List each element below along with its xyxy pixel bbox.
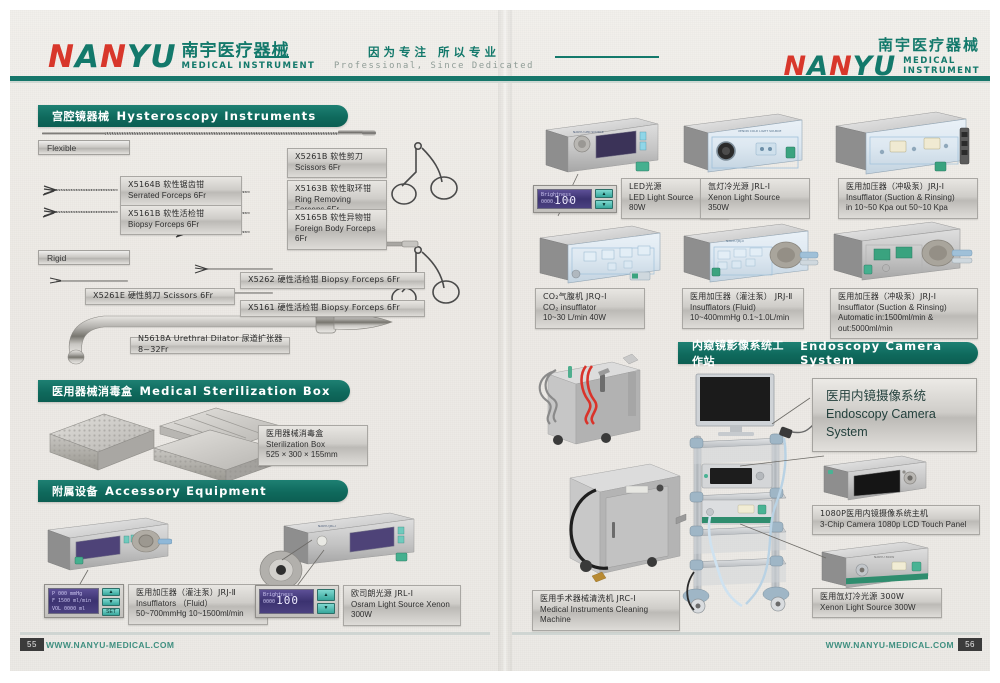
footer-url-right[interactable]: WWW.NANYU-MEDICAL.COM <box>826 640 954 650</box>
page-frame-top <box>0 0 1000 10</box>
caption-foreign-body: X5165B 软性异物钳 Foreign Body Forceps 6Fr <box>287 209 387 250</box>
sterilization-box-closed-image <box>42 408 157 483</box>
group-label-flexible-text: Flexible <box>47 143 76 153</box>
caption-rigid-biopsy-5161-text: X5161 硬性活检钳 Biopsy Forceps 6Fr <box>248 303 400 314</box>
tagline-rule-left <box>255 56 289 58</box>
lcd-line-2: F 1500 ml/min <box>52 598 95 605</box>
caption-osram-spec: 300W <box>351 610 454 621</box>
caption-insufflator-fluid: 医用加压器（灌注泵）JRJ-Ⅱ Insufflators （Fluid） 50~… <box>128 584 268 625</box>
section-banner-hysteroscopy: 宫腔镜器械 Hysteroscopy Instruments <box>38 105 348 127</box>
caption-biopsy-forceps-flex: X5161B 软性活检钳 Biopsy Forceps 6Fr <box>120 205 242 235</box>
brand-wordmark: NANYU <box>48 42 177 73</box>
caption-cleaning-machine-cn: 医用手术器械清洗机 JRC-Ⅰ <box>540 594 673 605</box>
caption-insufflator-auto: 医用加压器（冲吸泵）JRJ-Ⅰ Insufflator (Suction & R… <box>830 288 978 339</box>
lcd-button-up-led[interactable]: ▲ <box>595 189 613 198</box>
section-banner-accessory-cn: 附属设备 <box>52 483 98 499</box>
caption-rigid-scissors-text: X5261E 硬性剪刀 Scissors 6Fr <box>93 291 213 302</box>
lcd-line-3: VOL 0000 ml <box>52 606 95 613</box>
caption-co2-cn: CO₂气腹机 JRQ-Ⅰ <box>543 292 638 303</box>
section-banner-camera-cn: 内窥镜影像系统工作站 <box>692 337 793 369</box>
caption-scissors-flex-cn: X5261B 软性剪刀 <box>295 152 380 163</box>
section-banner-accessory-en: Accessory Equipment <box>105 484 267 498</box>
device-xenon-light-source-image: XENON COLD LIGHT SOURCE <box>678 110 804 182</box>
caption-urethral-dilator-text: N5618A Urethral Dilator 尿道扩张器 8~32Fr <box>138 334 283 355</box>
svg-text:NANYU 300W: NANYU 300W <box>874 555 894 559</box>
lcd-button-down[interactable]: ▼ <box>102 598 120 606</box>
caption-ring-removing-cn: X5163B 软性取环钳 <box>295 184 380 195</box>
section-banner-sterilization-cn: 医用器械消毒盒 <box>52 383 133 399</box>
caption-xenon-300w: 医用氙灯冷光源 300W Xenon Light Source 300W <box>812 588 942 618</box>
caption-camera-system-main: 医用内镜摄像系统 Endoscopy Camera System <box>812 378 977 452</box>
caption-insufflator-suction-cn: 医用加压器（冲吸泵）JRJ-Ⅰ <box>846 182 971 193</box>
group-label-flexible: Flexible <box>38 140 130 155</box>
device-insufflator-suction-image <box>832 108 972 184</box>
caption-1080p-camera: 1080P医用内镜摄像系统主机 3-Chip Camera 1080p LCD … <box>812 505 980 535</box>
section-banner-accessory: 附属设备 Accessory Equipment <box>38 480 348 502</box>
caption-xenon-300w-en: Xenon Light Source 300W <box>820 603 935 614</box>
caption-camera-system-en: Endoscopy Camera System <box>826 405 964 441</box>
brand-sub-en-line2: INSTRUMENT <box>903 67 980 77</box>
catalog-page: NANYU 南宇医疗器械 MEDICAL INSTRUMENT 因为专注 所以专… <box>0 0 1000 683</box>
page-number-right: 56 <box>958 638 982 651</box>
group-label-rigid: Rigid <box>38 250 130 265</box>
machine-cleaning-upper-image <box>528 352 648 462</box>
instrument-biopsy-forceps-jaw-icon <box>42 206 68 222</box>
caption-insufflator-fluid-cn: 医用加压器（灌注泵）JRJ-Ⅱ <box>136 588 261 599</box>
lcd-button-down-osram[interactable]: ▼ <box>317 603 335 615</box>
lcd-button-set[interactable]: SET <box>102 608 120 616</box>
caption-insufflator-auto-spec: Automatic in:1500ml/min & out:5000ml/min <box>838 313 971 334</box>
caption-osram-cn: 欧司朗光源 JRL-Ⅰ <box>351 589 454 600</box>
caption-scissors-flex: X5261B 软性剪刀 Scissors 6Fr <box>287 148 387 178</box>
lcd-value-led: 100 <box>554 193 577 209</box>
caption-scissors-flex-en: Scissors 6Fr <box>295 163 380 174</box>
caption-biopsy-forceps-flex-en: Biopsy Forceps 6Fr <box>128 220 235 231</box>
caption-insufflator-fluid-spec: 50~700mmHg 10~1500ml/min <box>136 609 261 620</box>
caption-insufflator-auto-en: Insufflator (Suction & Rinsing) <box>838 303 971 314</box>
caption-serrated-forceps-en: Serrated Forceps 6Fr <box>128 191 235 202</box>
caption-insufflator-fluid-right-cn: 医用加压器（灌注泵） JRJ-Ⅱ <box>690 292 797 303</box>
section-banner-sterilization: 医用器械消毒盒 Medical Sterilization Box <box>38 380 350 402</box>
caption-insufflator-fluid-right-spec: 10~400mmHg 0.1~1.0L/min <box>690 313 797 324</box>
caption-co2-insufflator: CO₂气腹机 JRQ-Ⅰ CO₂ insufflator 10~30 L/min… <box>535 288 645 329</box>
svg-text:NANYU LED SOURCE: NANYU LED SOURCE <box>573 130 604 134</box>
caption-urethral-dilator: N5618A Urethral Dilator 尿道扩张器 8~32Fr <box>130 337 290 354</box>
caption-insufflator-fluid-right: 医用加压器（灌注泵） JRJ-Ⅱ Insufflators (Fluid) 10… <box>682 288 804 329</box>
svg-text:NANYU JRJ-II: NANYU JRJ-II <box>726 239 744 243</box>
lcd-screen-led: Brightness 0000.... % 100 <box>537 189 592 209</box>
instrument-rigid-scissors-tip-icon <box>48 275 68 287</box>
lcd-line-1: P 000 mmHg <box>52 591 95 598</box>
footer-url-left[interactable]: WWW.NANYU-MEDICAL.COM <box>46 640 174 650</box>
lcd-panel-insufflator: P 000 mmHg F 1500 ml/min VOL 0000 ml ▲ ▼… <box>44 584 124 618</box>
lcd-button-down-led[interactable]: ▼ <box>595 200 613 209</box>
caption-cleaning-machine: 医用手术器械清洗机 JRC-Ⅰ Medical Instruments Clea… <box>532 590 680 631</box>
caption-co2-spec: 10~30 L/min 40W <box>543 313 638 324</box>
lcd-panel-led: Brightness 0000.... % 100 ▲ ▼ <box>533 185 617 213</box>
caption-xenon-light-source: 氙灯冷光源 JRL-Ⅰ Xenon Light Source 350W <box>700 178 810 219</box>
caption-xenon-spec: 350W <box>708 203 803 214</box>
section-banner-sterilization-en: Medical Sterilization Box <box>140 384 331 398</box>
page-frame-left <box>0 0 10 683</box>
lcd-screen-osram: Brightness 0000 ... 100 <box>259 589 314 614</box>
caption-osram-en: Osram Light Source Xenon <box>351 600 454 611</box>
lcd-button-up-osram[interactable]: ▲ <box>317 589 335 601</box>
lcd-value-brightness: 100 <box>276 593 299 609</box>
caption-insufflator-fluid-en: Insufflators （Fluid） <box>136 599 261 610</box>
caption-rigid-biopsy-5262-text: X5262 硬性活检钳 Biopsy Forceps 6Fr <box>248 275 400 286</box>
tagline-cn: 因为专注 所以专业 <box>255 44 595 60</box>
logo-right: 南宇医疗器械 NANYU MEDICAL INSTRUMENT <box>784 34 980 80</box>
lcd-buttons-led[interactable]: ▲ ▼ <box>595 189 613 209</box>
device-insufflator-auto-image <box>828 218 978 294</box>
svg-text:XENON COLD LIGHT SOURCE: XENON COLD LIGHT SOURCE <box>738 129 782 133</box>
caption-biopsy-forceps-flex-cn: X5161B 软性活检钳 <box>128 209 235 220</box>
lcd-screen-insufflator: P 000 mmHg F 1500 ml/min VOL 0000 ml <box>48 588 99 614</box>
brand-wordmark-right: NANYU <box>784 53 897 80</box>
footer-rule-left <box>20 632 490 635</box>
caption-insufflator-fluid-right-en: Insufflators (Fluid) <box>690 303 797 314</box>
lcd-buttons-osram[interactable]: ▲ ▼ <box>317 589 335 614</box>
svg-text:NANYU JRL-I: NANYU JRL-I <box>318 524 336 528</box>
page-frame-right <box>990 0 1000 683</box>
instrument-flexible-long-braid <box>105 132 345 135</box>
group-label-rigid-text: Rigid <box>47 253 66 263</box>
caption-cleaning-machine-en: Medical Instruments Cleaning Machine <box>540 605 673 626</box>
section-banner-hysteroscopy-en: Hysteroscopy Instruments <box>117 109 317 123</box>
caption-camera-system-cn: 医用内镜摄像系统 <box>826 387 964 405</box>
brand-sub-en-right: MEDICAL INSTRUMENT <box>903 57 980 77</box>
caption-serrated-forceps-cn: X5164B 软性锯齿钳 <box>128 180 235 191</box>
lcd-panel-osram: Brightness 0000 ... 100 ▲ ▼ <box>255 585 339 618</box>
caption-foreign-body-en: Foreign Body Forceps 6Fr <box>295 224 380 245</box>
section-banner-camera-en: Endoscopy Camera System <box>800 339 978 367</box>
caption-xenon-en: Xenon Light Source <box>708 193 803 204</box>
lcd-button-up[interactable]: ▲ <box>102 588 120 596</box>
section-banner-camera-system: 内窥镜影像系统工作站 Endoscopy Camera System <box>678 342 978 364</box>
caption-osram-light-source: 欧司朗光源 JRL-Ⅰ Osram Light Source Xenon 300… <box>343 585 461 626</box>
caption-sterilization-box: 医用器械消毒盒 Sterilization Box 525 × 300 × 15… <box>258 425 368 466</box>
device-co2-insufflator-image <box>534 222 664 294</box>
instrument-serrated-forceps-jaw-icon <box>42 184 68 200</box>
caption-co2-en: CO₂ insufflator <box>543 303 638 314</box>
caption-1080p-en: 3-Chip Camera 1080p LCD Touch Panel <box>820 520 973 531</box>
caption-insufflator-suction-spec: in 10~50 Kpa out 50~10 Kpa <box>846 203 971 214</box>
page-frame-bottom <box>0 671 1000 683</box>
caption-rigid-biopsy-5262: X5262 硬性活检钳 Biopsy Forceps 6Fr <box>240 272 425 289</box>
caption-sterilization-box-size: 525 × 300 × 155mm <box>266 450 361 461</box>
instrument-flexible-long-tip <box>362 130 376 136</box>
caption-xenon-cn: 氙灯冷光源 JRL-Ⅰ <box>708 182 803 193</box>
caption-sterilization-box-cn: 医用器械消毒盒 <box>266 429 361 440</box>
tagline-rule-right <box>555 56 659 58</box>
caption-rigid-scissors: X5261E 硬性剪刀 Scissors 6Fr <box>85 288 235 305</box>
instrument-rigid-biopsy1-jaw-icon <box>193 263 215 277</box>
page-number-left: 55 <box>20 638 44 651</box>
caption-xenon-300w-cn: 医用氙灯冷光源 300W <box>820 592 935 603</box>
caption-insufflator-auto-cn: 医用加压器（冲吸泵）JRJ-Ⅰ <box>838 292 971 303</box>
device-insufflator-fluid-pump-image: NANYU JRJ-II <box>678 220 828 296</box>
caption-insufflator-suction: 医用加压器（冲吸泵）JRJ-Ⅰ Insufflator (Suction & R… <box>838 178 978 219</box>
caption-1080p-cn: 1080P医用内镜摄像系统主机 <box>820 509 973 520</box>
caption-foreign-body-cn: X5165B 软性异物钳 <box>295 213 380 224</box>
instrument-flexible-long-handle <box>338 130 365 135</box>
tagline-block: 因为专注 所以专业 Professional, Since Dedicated <box>255 44 595 71</box>
callout-line-1080p <box>740 448 860 482</box>
caption-serrated-forceps: X5164B 软性锯齿钳 Serrated Forceps 6Fr <box>120 176 242 206</box>
section-banner-hysteroscopy-cn: 宫腔镜器械 <box>52 108 110 124</box>
footer-rule-right <box>512 632 980 635</box>
caption-sterilization-box-en: Sterilization Box <box>266 440 361 451</box>
tagline-en: Professional, Since Dedicated <box>255 61 595 71</box>
lcd-buttons-insufflator[interactable]: ▲ ▼ SET <box>102 588 120 614</box>
machine-cleaning-lower-image <box>552 452 687 582</box>
page-spine <box>498 10 512 671</box>
caption-insufflator-suction-en: Insufflator (Suction & Rinsing) <box>846 193 971 204</box>
caption-rigid-biopsy-5161: X5161 硬性活检钳 Biopsy Forceps 6Fr <box>240 300 425 317</box>
